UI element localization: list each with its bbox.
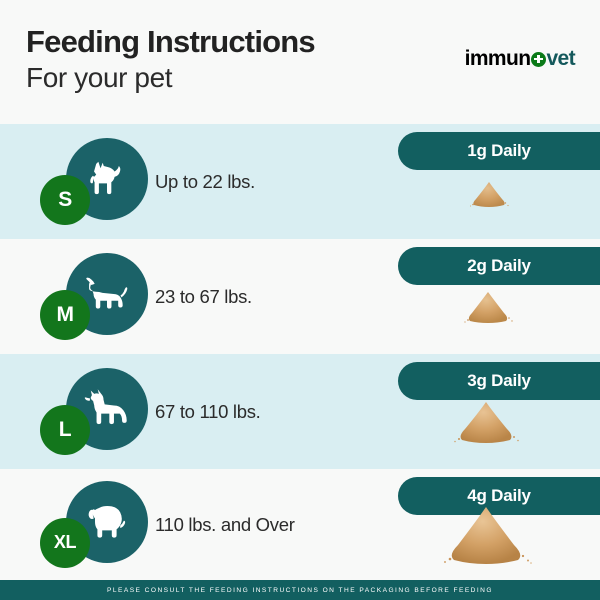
powder-pile-4g <box>428 503 544 565</box>
page-subtitle: For your pet <box>26 61 315 94</box>
footer-bar: PLEASE CONSULT THE FEEDING INSTRUCTIONS … <box>0 580 600 600</box>
page-title: Feeding Instructions <box>26 26 315 57</box>
powder-pile-3g <box>443 398 529 444</box>
header: Feeding Instructions For your pet immunv… <box>0 0 600 124</box>
size-cluster: L <box>40 368 155 456</box>
title-block: Feeding Instructions For your pet <box>26 26 315 94</box>
weight-range-label: Up to 22 lbs. <box>155 171 255 193</box>
weight-range-label: 67 to 110 lbs. <box>155 401 261 423</box>
dose-badge-s: 1g Daily <box>398 132 600 170</box>
size-badge-xl: XL <box>40 518 90 568</box>
weight-range-label: 110 lbs. and Over <box>155 514 295 536</box>
size-cluster: S <box>40 138 155 226</box>
footer-disclaimer: PLEASE CONSULT THE FEEDING INSTRUCTIONS … <box>107 587 493 594</box>
weight-range-label: 23 to 67 lbs. <box>155 286 252 308</box>
size-cluster: M <box>40 253 155 341</box>
dose-badge-m: 2g Daily <box>398 247 600 285</box>
dose-badge-l: 3g Daily <box>398 362 600 400</box>
brand-logo: immunvet <box>465 47 575 71</box>
logo-text-immun: immun <box>465 47 531 71</box>
logo-text-vet: vet <box>546 47 575 71</box>
powder-pile-2g <box>455 288 521 324</box>
plus-circle-icon <box>531 52 546 67</box>
size-badge-m: M <box>40 290 90 340</box>
powder-pile-1g <box>462 178 516 208</box>
size-badge-s: S <box>40 175 90 225</box>
size-cluster: XL <box>40 481 155 569</box>
size-badge-l: L <box>40 405 90 455</box>
